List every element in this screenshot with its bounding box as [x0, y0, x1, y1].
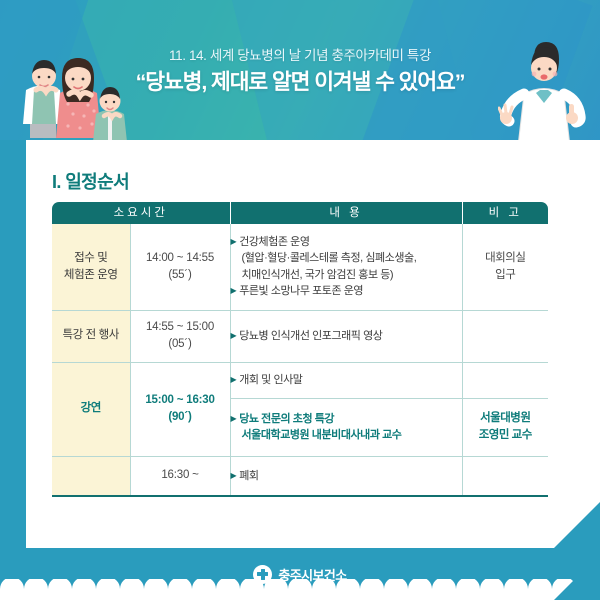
triangle-bullet-icon: ▶	[231, 414, 237, 423]
row-time-line1: 15:00 ~ 16:30	[131, 392, 230, 409]
left-accent-bar	[0, 140, 26, 560]
row-label-reception: 접수 및 체험존 운영	[52, 224, 130, 310]
table-body: 접수 및 체험존 운영 14:00 ~ 14:55 (55´) ▶건강체험존 운…	[52, 224, 548, 496]
footer: 충주시보건소	[0, 548, 600, 600]
section-title: I. 일정순서	[52, 168, 129, 194]
schedule-table-wrap: 소요시간 내 용 비 고 접수 및 체험존 운영 14:00 ~ 14:55 (…	[52, 202, 548, 497]
row-note-speaker: 서울대병원 조영민 교수	[462, 398, 548, 456]
row-note-line2: 조영민 교수	[463, 427, 549, 444]
table-row: 강연 15:00 ~ 16:30 (90´) ▶개회 및 인사말	[52, 362, 548, 398]
table-row: 접수 및 체험존 운영 14:00 ~ 14:55 (55´) ▶건강체험존 운…	[52, 224, 548, 310]
triangle-bullet-icon: ▶	[231, 375, 237, 384]
row-time-line2: (05´)	[131, 336, 230, 353]
poster-card: 11. 14. 세계 당뇨병의 날 기념 충주아카데미 특강 “당뇨병, 제대로…	[0, 0, 600, 600]
triangle-bullet-icon: ▶	[231, 331, 237, 340]
column-header-note: 비 고	[462, 202, 548, 224]
row-note-reception: 대회의실 입구	[462, 224, 548, 310]
row-time-line1: 16:30 ~	[131, 467, 230, 484]
content-bullet: ▶당뇨병 인식개선 인포그래픽 영상	[231, 328, 462, 345]
content-bullet-text: 당뇨병 인식개선 인포그래픽 영상	[239, 330, 382, 342]
row-label-line2: 체험존 운영	[52, 267, 130, 284]
content-subline: (혈압·혈당·콜레스테롤 측정, 심폐소생술,	[231, 250, 462, 267]
row-time-line1: 14:55 ~ 15:00	[131, 319, 230, 336]
medical-cross-icon	[253, 565, 272, 584]
content-bullet-text: 당뇨 전문의 초청 특강	[239, 413, 334, 425]
triangle-bullet-icon: ▶	[231, 237, 237, 246]
row-time-line1: 14:00 ~ 14:55	[131, 250, 230, 267]
content-bullet: ▶건강체험존 운영	[231, 234, 462, 251]
triangle-bullet-icon: ▶	[231, 471, 237, 480]
row-time-closing: 16:30 ~	[130, 456, 230, 496]
column-header-duration: 소요시간	[52, 202, 230, 224]
column-header-content: 내 용	[230, 202, 462, 224]
row-label-line1: 특강 전 행사	[52, 327, 130, 344]
row-time-line2: (90´)	[131, 409, 230, 426]
content-bullet-text: 개회 및 인사말	[239, 374, 302, 386]
triangle-bullet-icon: ▶	[231, 286, 237, 295]
row-label-line1: 접수 및	[52, 250, 130, 267]
content-bullet: ▶푸른빛 소망나무 포토존 운영	[231, 283, 462, 300]
table-row: 특강 전 행사 14:55 ~ 15:00 (05´) ▶당뇨병 인식개선 인포…	[52, 310, 548, 362]
row-note-line1: 대회의실	[463, 250, 549, 267]
table-row: 16:30 ~ ▶폐회	[52, 456, 548, 496]
row-note-pre-event	[462, 310, 548, 362]
organization-name: 충주시보건소	[278, 565, 346, 584]
content-subline: 서울대학교병원 내분비대사내과 교수	[231, 427, 462, 444]
row-time-reception: 14:00 ~ 14:55 (55´)	[130, 224, 230, 310]
row-label-lecture: 강연	[52, 362, 130, 456]
row-content-pre-event: ▶당뇨병 인식개선 인포그래픽 영상	[230, 310, 462, 362]
schedule-table: 소요시간 내 용 비 고 접수 및 체험존 운영 14:00 ~ 14:55 (…	[52, 202, 548, 497]
content-bullet-text: 폐회	[239, 470, 258, 482]
row-note-opening	[462, 362, 548, 398]
row-content-closing: ▶폐회	[230, 456, 462, 496]
row-content-opening: ▶개회 및 인사말	[230, 362, 462, 398]
header-headline: “당뇨병, 제대로 알면 이겨낼 수 있어요”	[0, 70, 600, 96]
content-bullet: ▶폐회	[231, 468, 462, 485]
content-bullet: ▶당뇨 전문의 초청 특강	[231, 411, 462, 428]
table-header-row: 소요시간 내 용 비 고	[52, 202, 548, 224]
header-text-block: 11. 14. 세계 당뇨병의 날 기념 충주아카데미 특강 “당뇨병, 제대로…	[0, 0, 600, 96]
content-bullet: ▶개회 및 인사말	[231, 372, 462, 389]
row-time-line2: (55´)	[131, 267, 230, 284]
row-label-closing	[52, 456, 130, 496]
row-time-lecture: 15:00 ~ 16:30 (90´)	[130, 362, 230, 456]
row-label-pre-event: 특강 전 행사	[52, 310, 130, 362]
row-label-line1: 강연	[52, 400, 130, 417]
header-kicker: 11. 14. 세계 당뇨병의 날 기념 충주아카데미 특강	[0, 48, 600, 64]
content-bullet-text: 푸른빛 소망나무 포토존 운영	[239, 285, 363, 297]
content-subline: 치매인식개선, 국가 암검진 홍보 등)	[231, 267, 462, 284]
content-bullet-text: 건강체험존 운영	[239, 236, 309, 248]
row-time-pre-event: 14:55 ~ 15:00 (05´)	[130, 310, 230, 362]
row-content-reception: ▶건강체험존 운영 (혈압·혈당·콜레스테롤 측정, 심폐소생술, 치매인식개선…	[230, 224, 462, 310]
row-note-line2: 입구	[463, 267, 549, 284]
row-note-line1: 서울대병원	[463, 410, 549, 427]
table-header: 소요시간 내 용 비 고	[52, 202, 548, 224]
row-content-special-lecture: ▶당뇨 전문의 초청 특강 서울대학교병원 내분비대사내과 교수	[230, 398, 462, 456]
row-note-closing	[462, 456, 548, 496]
